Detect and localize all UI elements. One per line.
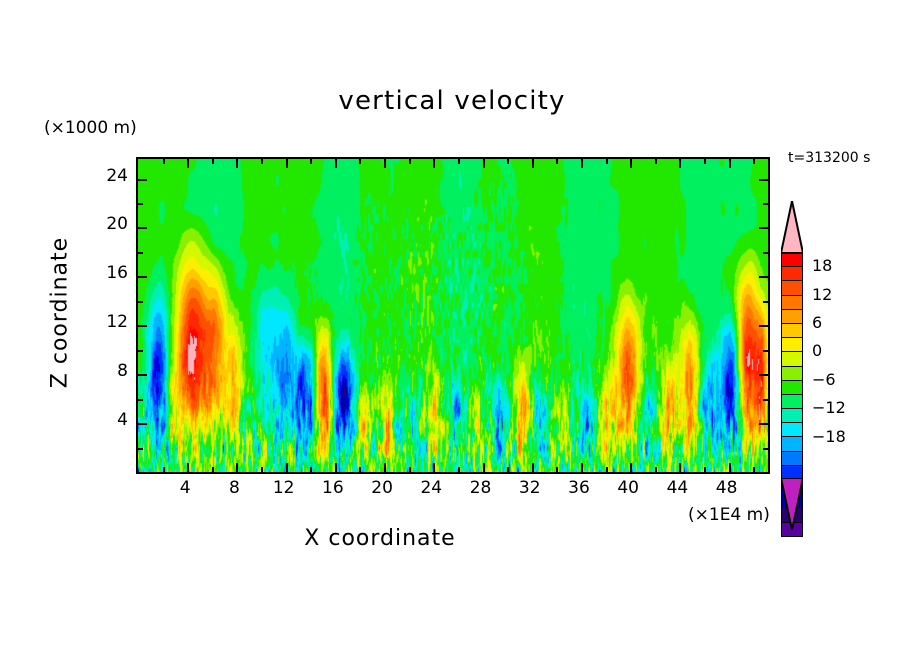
colorbar-swatch bbox=[781, 452, 803, 466]
x-tick-top bbox=[556, 159, 558, 164]
plot-area bbox=[136, 157, 770, 474]
x-tick bbox=[286, 463, 288, 472]
y-tick-right bbox=[763, 399, 768, 401]
colorbar-swatch bbox=[781, 367, 803, 381]
x-tick bbox=[212, 467, 214, 472]
colorbar-swatch bbox=[781, 409, 803, 423]
y-tick bbox=[138, 325, 147, 327]
colorbar-tick-label: −18 bbox=[812, 427, 846, 446]
y-tick bbox=[138, 350, 143, 352]
colorbar-swatch bbox=[781, 281, 803, 295]
y-tick-right bbox=[759, 227, 768, 229]
x-tick bbox=[335, 463, 337, 472]
y-tick-label: 20 bbox=[88, 214, 128, 234]
colorbar-under-arrow-outline bbox=[781, 478, 803, 530]
y-tick bbox=[138, 301, 143, 303]
x-tick-top bbox=[187, 159, 189, 168]
colorbar-swatch bbox=[781, 324, 803, 338]
colorbar-tick-label: 12 bbox=[812, 285, 832, 304]
x-tick bbox=[384, 463, 386, 472]
y-tick-label: 24 bbox=[88, 166, 128, 186]
x-tick-top bbox=[409, 159, 411, 164]
colorbar-swatch bbox=[781, 395, 803, 409]
x-tick-top bbox=[753, 159, 755, 164]
x-tick-top bbox=[606, 159, 608, 164]
chart-title: vertical velocity bbox=[0, 86, 904, 116]
x-tick bbox=[630, 463, 632, 472]
x-tick bbox=[729, 463, 731, 472]
colorbar-tick-label: −6 bbox=[812, 370, 836, 389]
y-axis-title: Z coordinate bbox=[48, 193, 73, 433]
x-axis-title: X coordinate bbox=[0, 526, 760, 551]
x-tick bbox=[163, 467, 165, 472]
y-tick bbox=[138, 399, 143, 401]
x-tick-label: 16 bbox=[313, 478, 353, 498]
colorbar-swatch bbox=[781, 267, 803, 281]
x-tick-top bbox=[286, 159, 288, 168]
x-tick bbox=[753, 467, 755, 472]
x-tick bbox=[704, 467, 706, 472]
x-tick bbox=[507, 467, 509, 472]
y-tick-right bbox=[759, 276, 768, 278]
x-tick-top bbox=[729, 159, 731, 168]
y-tick-label: 12 bbox=[88, 312, 128, 332]
colorbar-swatch bbox=[781, 381, 803, 395]
x-tick-top bbox=[630, 159, 632, 168]
y-tick bbox=[138, 276, 147, 278]
x-tick-label: 28 bbox=[461, 478, 501, 498]
x-tick-top bbox=[212, 159, 214, 164]
x-tick-label: 44 bbox=[657, 478, 697, 498]
x-tick bbox=[409, 467, 411, 472]
x-tick bbox=[187, 463, 189, 472]
x-tick-label: 40 bbox=[608, 478, 648, 498]
y-tick bbox=[138, 448, 143, 450]
x-tick-top bbox=[261, 159, 263, 164]
x-tick bbox=[556, 467, 558, 472]
x-tick bbox=[310, 467, 312, 472]
x-tick-top bbox=[163, 159, 165, 164]
x-tick-top bbox=[458, 159, 460, 164]
x-tick-top bbox=[384, 159, 386, 168]
y-tick-right bbox=[763, 301, 768, 303]
x-tick bbox=[261, 467, 263, 472]
y-tick-label: 16 bbox=[88, 263, 128, 283]
x-tick-label: 32 bbox=[510, 478, 550, 498]
x-tick-top bbox=[507, 159, 509, 164]
y-tick-right bbox=[759, 179, 768, 181]
y-tick-right bbox=[759, 374, 768, 376]
y-tick bbox=[138, 252, 143, 254]
y-tick-right bbox=[763, 203, 768, 205]
x-tick-top bbox=[483, 159, 485, 168]
x-tick-label: 12 bbox=[264, 478, 304, 498]
y-tick-right bbox=[759, 423, 768, 425]
x-tick-top bbox=[581, 159, 583, 168]
y-tick bbox=[138, 423, 147, 425]
y-tick-right bbox=[763, 252, 768, 254]
x-tick bbox=[655, 467, 657, 472]
x-tick-label: 48 bbox=[707, 478, 747, 498]
colorbar-swatch bbox=[781, 338, 803, 352]
contour-field bbox=[138, 159, 768, 472]
y-tick-right bbox=[759, 325, 768, 327]
x-tick bbox=[359, 467, 361, 472]
x-tick-top bbox=[679, 159, 681, 168]
y-tick-right bbox=[763, 448, 768, 450]
colorbar-swatch bbox=[781, 437, 803, 451]
y-tick bbox=[138, 203, 143, 205]
x-tick-label: 36 bbox=[559, 478, 599, 498]
figure-canvas: vertical velocity (×1000 m) t=313200 s 4… bbox=[0, 0, 904, 654]
x-tick bbox=[679, 463, 681, 472]
y-tick-label: 8 bbox=[88, 361, 128, 381]
y-tick bbox=[138, 374, 147, 376]
x-axis-unit-label: (×1E4 m) bbox=[688, 505, 770, 525]
x-tick-top bbox=[704, 159, 706, 164]
colorbar-tick-label: 18 bbox=[812, 256, 832, 275]
x-tick bbox=[458, 467, 460, 472]
colorbar-swatch bbox=[781, 423, 803, 437]
colorbar-tick-label: 6 bbox=[812, 313, 822, 332]
x-tick bbox=[483, 463, 485, 472]
colorbar-swatch bbox=[781, 253, 803, 267]
x-tick-top bbox=[236, 159, 238, 168]
colorbar-swatch bbox=[781, 296, 803, 310]
colorbar-swatch bbox=[781, 310, 803, 324]
colorbar-over-arrow-outline bbox=[781, 201, 803, 253]
colorbar-tick-label: 0 bbox=[812, 341, 822, 360]
x-tick-top bbox=[433, 159, 435, 168]
timestamp-annotation: t=313200 s bbox=[788, 150, 870, 166]
y-tick-right bbox=[763, 350, 768, 352]
x-tick bbox=[532, 463, 534, 472]
y-axis-unit-label: (×1000 m) bbox=[44, 118, 137, 138]
x-tick-label: 8 bbox=[214, 478, 254, 498]
x-tick bbox=[433, 463, 435, 472]
x-tick-label: 20 bbox=[362, 478, 402, 498]
x-tick-label: 4 bbox=[165, 478, 205, 498]
x-tick bbox=[581, 463, 583, 472]
y-tick bbox=[138, 179, 147, 181]
x-tick-label: 24 bbox=[411, 478, 451, 498]
x-tick-top bbox=[359, 159, 361, 164]
x-tick-top bbox=[335, 159, 337, 168]
x-tick bbox=[606, 467, 608, 472]
y-tick-label: 4 bbox=[88, 410, 128, 430]
y-tick bbox=[138, 227, 147, 229]
colorbar-tick-label: −12 bbox=[812, 398, 846, 417]
x-tick bbox=[236, 463, 238, 472]
colorbar-swatch bbox=[781, 352, 803, 366]
x-tick-top bbox=[532, 159, 534, 168]
x-tick-top bbox=[310, 159, 312, 164]
x-tick-top bbox=[655, 159, 657, 164]
